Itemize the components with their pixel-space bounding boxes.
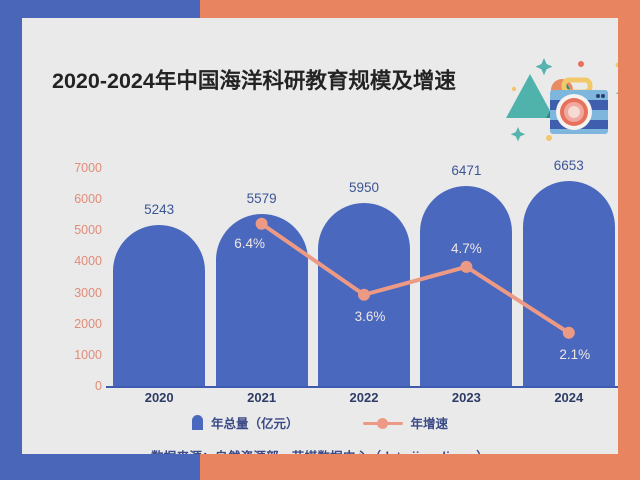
bar-value-label: 6653 xyxy=(523,158,615,173)
y-axis: 70006000500040003000200010000 xyxy=(44,168,102,388)
x-axis-tick: 2023 xyxy=(420,390,512,405)
y-axis-tick: 1000 xyxy=(74,348,102,362)
bar-value-label: 5950 xyxy=(318,180,410,195)
data-source-note: 数据来源：自然资源部、艾媒数据中心（data.iimedia.cn） xyxy=(22,446,618,454)
bar-value-label: 5579 xyxy=(216,191,308,206)
y-axis-tick: 4000 xyxy=(74,254,102,268)
bar-value-label: 5243 xyxy=(113,202,205,217)
bar-column[interactable]: 6471 xyxy=(420,170,512,388)
x-axis-tick: 2021 xyxy=(216,390,308,405)
y-axis-tick: 2000 xyxy=(74,317,102,331)
legend-item-bar[interactable]: 年总量（亿元） xyxy=(192,413,299,432)
legend-bar-label: 年总量（亿元） xyxy=(211,413,299,432)
y-axis-tick: 0 xyxy=(95,379,102,393)
bar-value-label: 6471 xyxy=(420,163,512,178)
bar-column[interactable]: 5243 xyxy=(113,170,205,388)
bar[interactable] xyxy=(113,225,205,388)
x-axis-tick: 2022 xyxy=(318,390,410,405)
bar[interactable] xyxy=(523,181,615,388)
camera-mountains-illustration-icon xyxy=(502,42,618,162)
bar[interactable] xyxy=(318,203,410,388)
bar-series: 52435579595064716653 xyxy=(108,168,618,388)
plot-area: 70006000500040003000200010000 5243557959… xyxy=(44,168,618,408)
chart-poster: 2020-2024年中国海洋科研教育规模及增速 xyxy=(0,0,640,480)
bar-column[interactable]: 5950 xyxy=(318,170,410,388)
y-axis-tick: 3000 xyxy=(74,286,102,300)
y-axis-tick: 5000 xyxy=(74,223,102,237)
chart-card: 2020-2024年中国海洋科研教育规模及增速 xyxy=(22,18,618,454)
legend-line-label: 年增速 xyxy=(411,413,449,432)
bar-column[interactable]: 5579 xyxy=(216,170,308,388)
x-axis: 20202021202220232024 xyxy=(108,390,618,412)
y-axis-tick: 7000 xyxy=(74,161,102,175)
legend: 年总量（亿元） 年增速 xyxy=(22,413,618,432)
bar-column[interactable]: 6653 xyxy=(523,170,615,388)
y-axis-tick: 6000 xyxy=(74,192,102,206)
axis-baseline xyxy=(106,386,618,388)
x-axis-tick: 2024 xyxy=(523,390,615,405)
bar[interactable] xyxy=(420,186,512,388)
legend-item-line[interactable]: 年增速 xyxy=(363,413,449,432)
page-title: 2020-2024年中国海洋科研教育规模及增速 xyxy=(52,64,456,95)
x-axis-tick: 2020 xyxy=(113,390,205,405)
bar[interactable] xyxy=(216,214,308,388)
legend-line-swatch-icon xyxy=(363,417,403,429)
legend-bar-swatch-icon xyxy=(192,415,203,430)
